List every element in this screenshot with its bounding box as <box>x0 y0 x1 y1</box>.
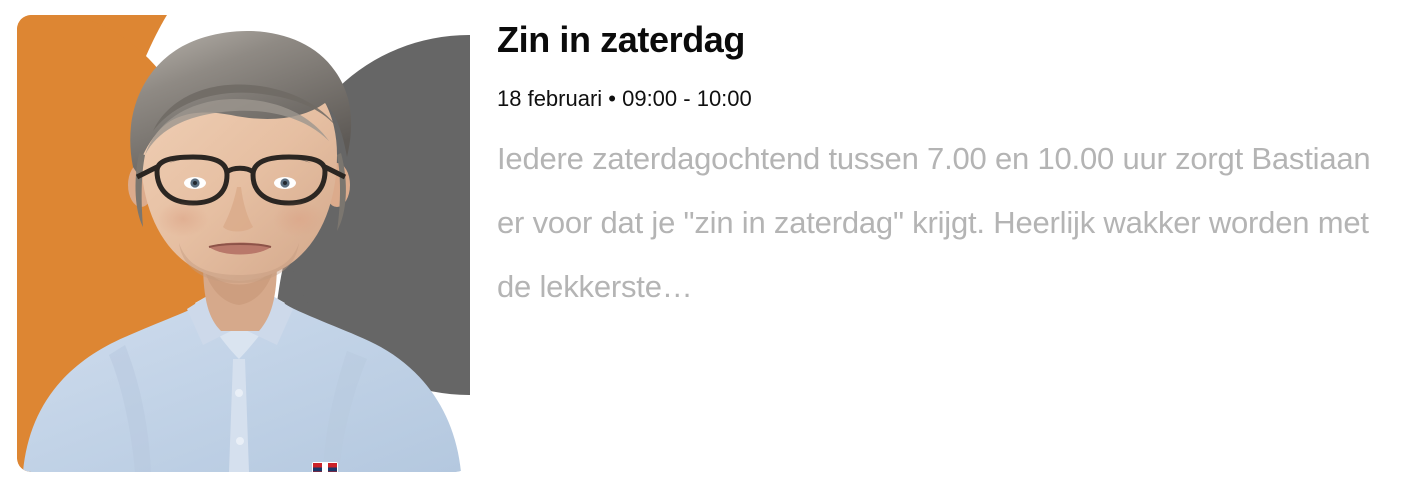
artwork-illustration <box>17 15 470 472</box>
tommy-hilfiger-logo <box>312 462 338 472</box>
cheek-right <box>273 201 325 237</box>
cheek-left <box>157 201 209 237</box>
program-artwork[interactable] <box>17 15 470 472</box>
program-description: Iedere zaterdagochtend tussen 7.00 en 10… <box>497 127 1387 319</box>
shirt-button <box>235 389 243 397</box>
program-title[interactable]: Zin in zaterdag <box>497 18 745 62</box>
pupil-right <box>283 181 287 185</box>
program-schedule-meta: 18 februari • 09:00 - 10:00 <box>497 85 752 113</box>
pupil-left <box>193 181 197 185</box>
program-text-column: Zin in zaterdag 18 februari • 09:00 - 10… <box>497 0 1397 496</box>
program-card[interactable]: Zin in zaterdag 18 februari • 09:00 - 10… <box>0 0 1411 496</box>
shirt-button <box>236 437 244 445</box>
